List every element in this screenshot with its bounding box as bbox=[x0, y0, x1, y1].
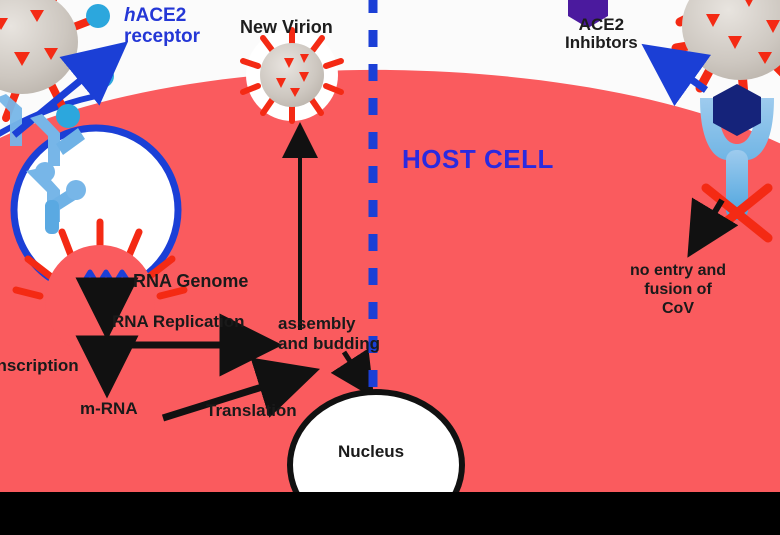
ace2-inhibitors-label: ACE2Inhibtors bbox=[565, 16, 638, 53]
ace2-inhibitors-line2: Inhibtors bbox=[565, 33, 638, 52]
hace2-line2: receptor bbox=[124, 26, 200, 47]
transcription-label: anscription bbox=[0, 357, 79, 375]
translation-label: Translation bbox=[206, 402, 297, 420]
no-entry-line3: CoV bbox=[662, 300, 694, 317]
assembly-budding-label: assemblyand budding bbox=[278, 314, 380, 353]
assembly-line2: and budding bbox=[278, 334, 380, 353]
host-cell-label: HOST CELL bbox=[402, 145, 554, 173]
no-entry-fusion-label: no entry andfusion ofCoV bbox=[630, 262, 726, 319]
figure-canvas: hACE2receptor New Virion ACE2Inhibtors H… bbox=[0, 0, 780, 535]
no-entry-line1: no entry and bbox=[630, 262, 726, 279]
hace2-rest: ACE2 bbox=[136, 5, 187, 26]
assembly-line1: assembly bbox=[278, 314, 356, 333]
nucleus-label: Nucleus bbox=[338, 443, 404, 461]
bottom-black-bar bbox=[0, 492, 780, 535]
rna-genome-label: RNA Genome bbox=[133, 272, 248, 291]
hace2-receptor-label: hACE2receptor bbox=[124, 6, 200, 47]
mrna-label: m-RNA bbox=[80, 400, 138, 418]
hace2-italic-h: h bbox=[124, 5, 136, 26]
no-entry-line2: fusion of bbox=[644, 281, 712, 298]
ace2-inhibitors-line1: ACE2 bbox=[579, 15, 624, 34]
new-virion-label: New Virion bbox=[240, 18, 333, 37]
rna-replication-label: RNA Replication bbox=[112, 313, 245, 331]
